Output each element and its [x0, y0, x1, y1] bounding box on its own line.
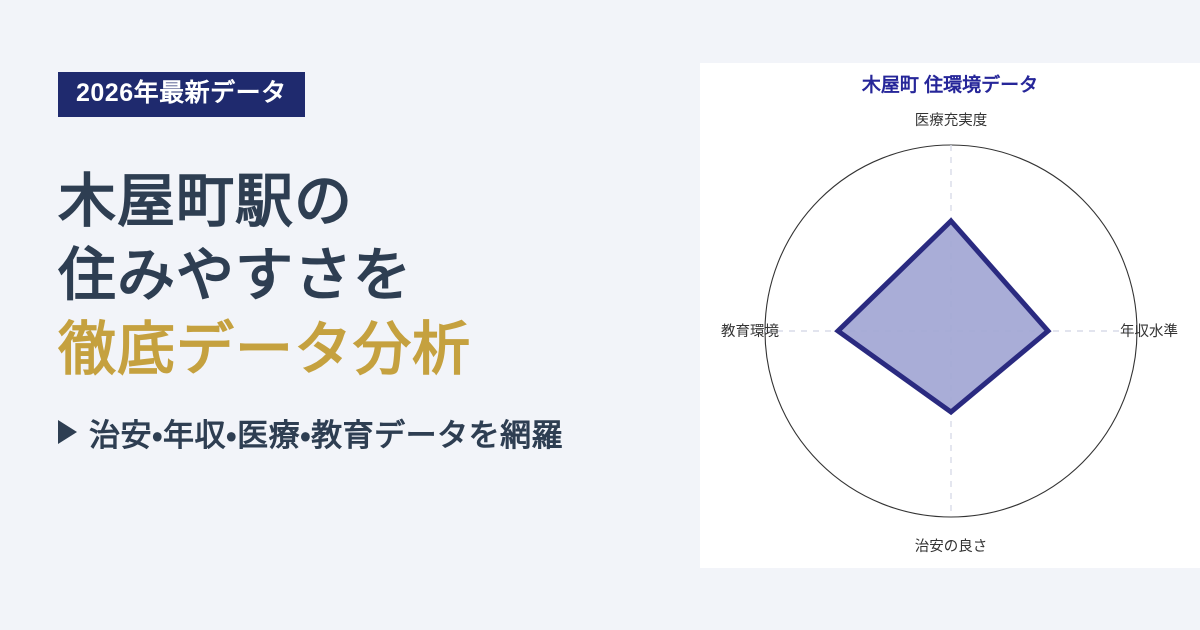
headline-line-3: 徹底データ分析: [58, 313, 700, 387]
axis-label-bottom: 治安の良さ: [915, 538, 988, 555]
page-title: 木屋町駅の 住みやすさを 徹底データ分析: [58, 165, 700, 388]
axis-label-right: 年収水準: [1120, 323, 1178, 340]
hero-text-column: 2026年最新データ 木屋町駅の 住みやすさを 徹底データ分析 治安・年収・医療…: [0, 0, 700, 630]
subtitle: 治安・年収・医療・教育データを網羅: [58, 410, 700, 455]
chart-title: 木屋町 住環境データ: [861, 73, 1038, 96]
axis-label-top: 医療充実度: [915, 112, 988, 129]
headline-line-1: 木屋町駅の: [58, 165, 700, 239]
play-triangle-icon: [58, 420, 77, 444]
radar-chart-card: 木屋町 住環境データ 医療充実度 年収水準 治安の良さ 教育環境: [700, 63, 1200, 568]
subtitle-text: 治安・年収・医療・教育データを網羅: [89, 410, 563, 455]
latest-data-badge: 2026年最新データ: [58, 72, 305, 117]
axis-label-left: 教育環境: [721, 323, 779, 340]
radar-chart: 木屋町 住環境データ 医療充実度 年収水準 治安の良さ 教育環境: [700, 63, 1200, 568]
headline-line-2: 住みやすさを: [58, 239, 700, 313]
radar-data-polygon: [838, 221, 1048, 412]
